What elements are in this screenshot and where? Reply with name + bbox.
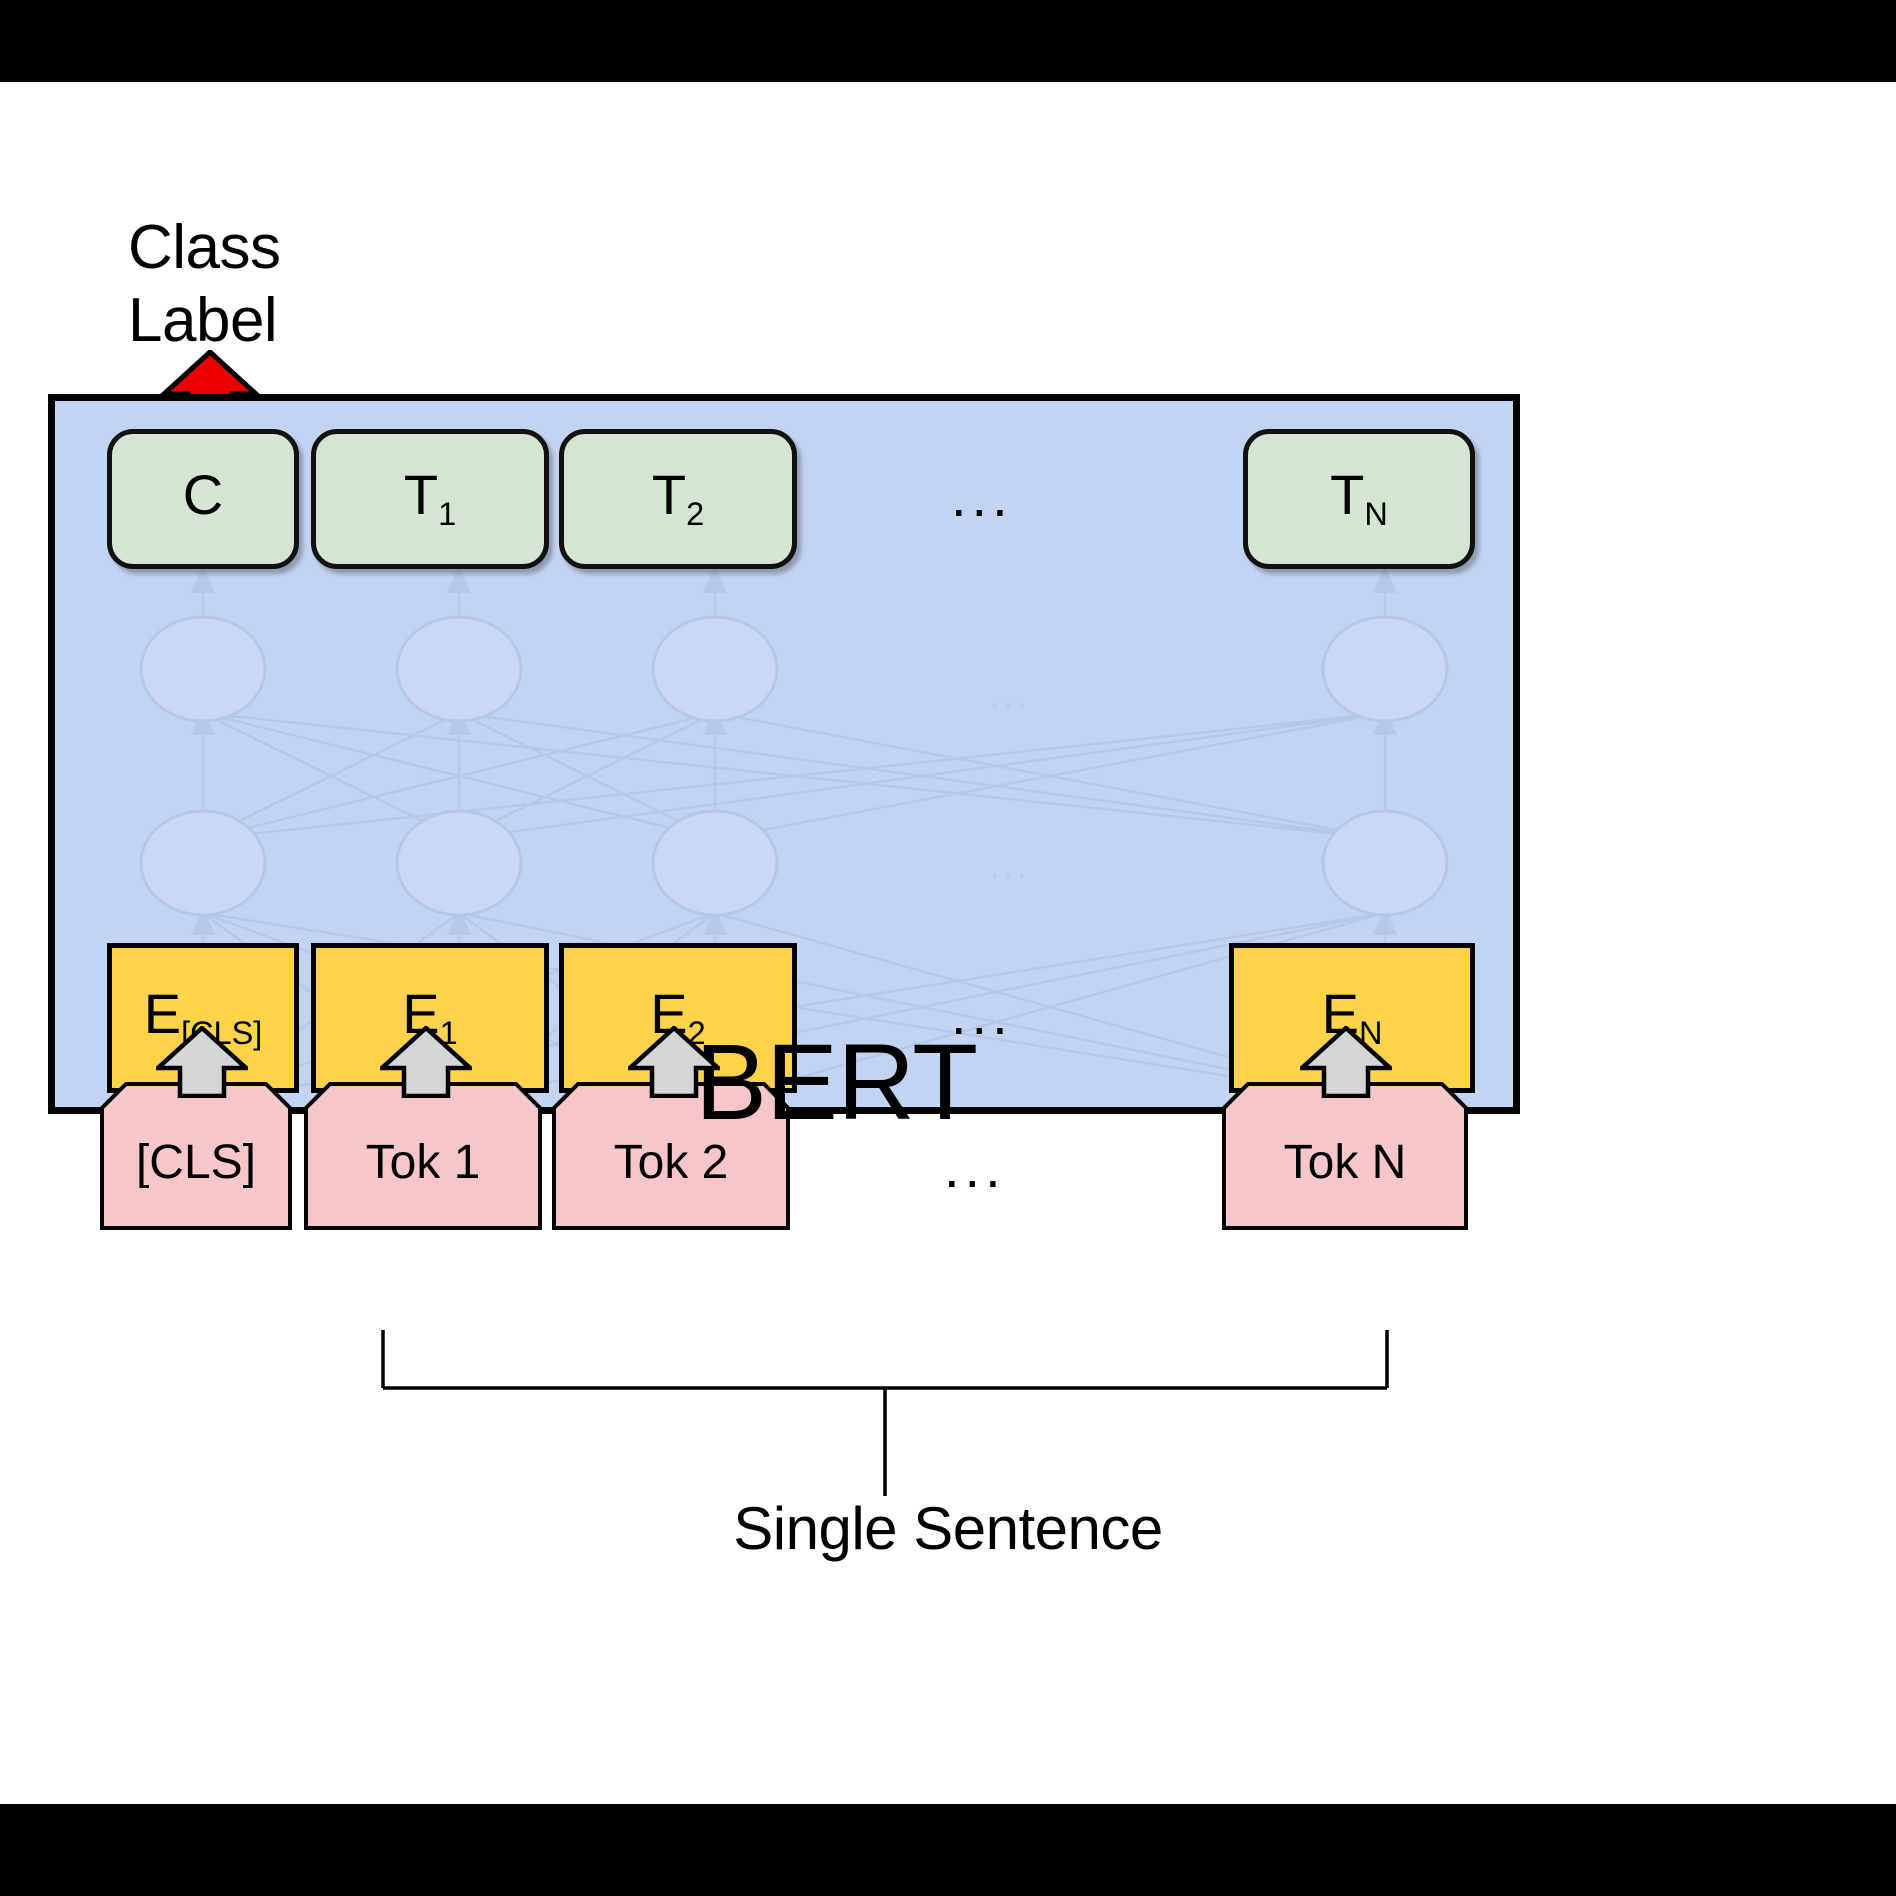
input-arrow-tok2-icon <box>628 1026 720 1098</box>
letterbox-top <box>0 0 1896 82</box>
token-box-tokn[interactable]: Tok N <box>1222 1082 1468 1230</box>
bert-encoder-panel: ... ... BERT C T1 T2 ... <box>48 394 1520 1114</box>
input-caption-label: Single Sentence <box>0 1494 1896 1563</box>
token-box-tokn-label: Tok N <box>1222 1082 1468 1230</box>
sentence-bracket <box>380 1328 1390 1498</box>
figure-canvas: Class Label <box>0 0 1896 1896</box>
network-ellipsis-upper: ... <box>990 679 1030 713</box>
output-box-c-label: C <box>183 467 223 531</box>
input-arrow-tokn-icon <box>1300 1026 1392 1098</box>
letterbox-bottom <box>0 1804 1896 1896</box>
token-box-cls-label: [CLS] <box>100 1082 292 1230</box>
output-box-tn[interactable]: TN <box>1243 429 1475 569</box>
output-box-t2-label: T2 <box>652 467 704 531</box>
output-box-tn-label: TN <box>1330 467 1388 531</box>
output-box-c[interactable]: C <box>107 429 299 569</box>
output-box-t1-label: T1 <box>404 467 456 531</box>
output-box-t2[interactable]: T2 <box>559 429 797 569</box>
token-box-tok1-label: Tok 1 <box>304 1082 542 1230</box>
output-box-t1[interactable]: T1 <box>311 429 549 569</box>
network-ellipsis-lower: ... <box>990 849 1030 883</box>
token-row-ellipsis: ... <box>944 1140 1006 1196</box>
output-row-ellipsis: ... <box>951 469 1013 525</box>
token-box-cls[interactable]: [CLS] <box>100 1082 292 1230</box>
token-box-tok1[interactable]: Tok 1 <box>304 1082 542 1230</box>
diagram-area: Class Label <box>0 82 1896 1804</box>
class-label-text: Class Label <box>128 212 281 357</box>
input-arrow-tok1-icon <box>380 1026 472 1098</box>
model-name-label: BERT <box>695 1019 977 1144</box>
input-arrow-cls-icon <box>156 1026 248 1098</box>
